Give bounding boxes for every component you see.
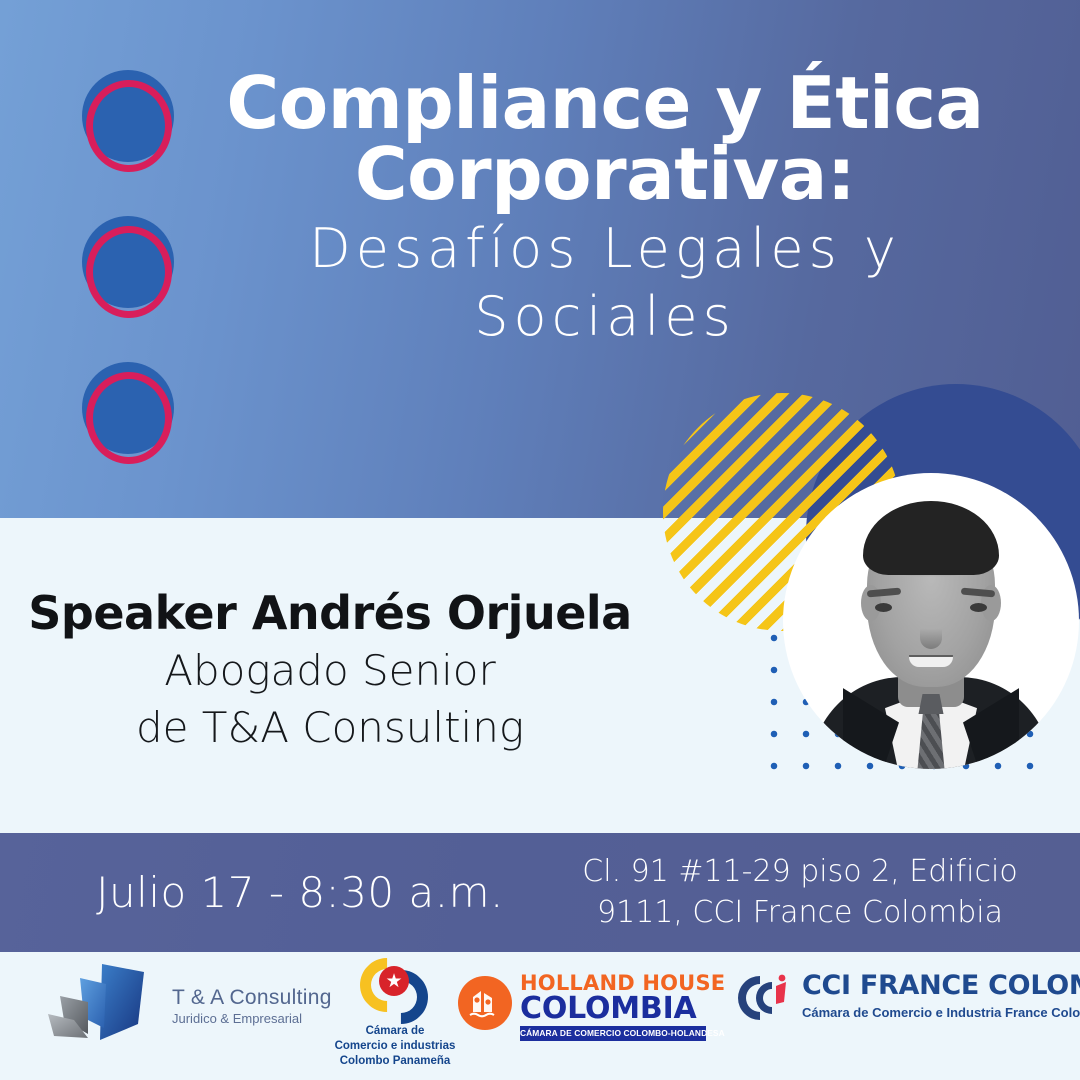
star-badge-icon: ★ [379, 966, 409, 996]
poster-title-block: Compliance y Ética Corporativa: Desafíos… [210, 68, 1000, 347]
ring-circle-outline [86, 372, 172, 464]
speaker-role-line-1: Abogado Senior [0, 645, 660, 696]
event-date-time: Julio 17 - 8:30 a.m. [60, 868, 540, 917]
holland-house-glyph-icon [468, 987, 502, 1019]
cci-subtitle: Cámara de Comercio e Industria France Co… [802, 1005, 1080, 1020]
logo-holland-house-colombia: HOLLAND HOUSE COLOMBIA CÁMARA DE COMERCI… [458, 970, 708, 1056]
sponsor-logo-strip: T & A Consulting Juridico & Empresarial … [0, 952, 1080, 1080]
ta-consulting-mark-icon [44, 962, 164, 1058]
ta-consulting-name: T & A Consulting [172, 986, 332, 1010]
event-poster: Compliance y Ética Corporativa: Desafíos… [0, 0, 1080, 1080]
event-address-line-1: Cl. 91 #11-29 piso 2, Edificio [560, 852, 1040, 893]
ring-circle-2 [78, 216, 183, 324]
ring-circle-outline [86, 226, 172, 318]
speaker-text-block: Speaker Andrés Orjuela Abogado Senior de… [0, 588, 660, 753]
portrait-nose [920, 615, 942, 649]
portrait-eye-left [875, 603, 892, 612]
holland-house-mark-icon [458, 976, 512, 1030]
avatar [783, 473, 1079, 769]
event-address-line-2: 9111, CCI France Colombia [560, 893, 1040, 934]
caption-line-1: Cámara de [310, 1024, 480, 1039]
ring-circle-outline [86, 80, 172, 172]
cci-wordmark: CCI FRANCE COLOMBIA Cámara de Comercio e… [802, 972, 1080, 1020]
camara-colombo-panamena-caption: Cámara de Comercio e industrias Colombo … [310, 1024, 480, 1069]
subtitle-line-2: Sociales [210, 287, 1000, 347]
event-details-bar: Julio 17 - 8:30 a.m. Cl. 91 #11-29 piso … [0, 833, 1080, 952]
portrait-tie-knot [919, 694, 944, 714]
subtitle-line-1: Desafíos Legales y [210, 219, 1000, 279]
event-address: Cl. 91 #11-29 piso 2, Edificio 9111, CCI… [560, 852, 1040, 933]
caption-line-2: Comercio e industrias [310, 1039, 480, 1054]
title-line-1: Compliance y Ética [210, 68, 1000, 139]
portrait-eye-right [970, 603, 987, 612]
logo-cci-france-colombia: CCI FRANCE COLOMBIA Cámara de Comercio e… [736, 968, 1056, 1056]
speaker-role-line-2: de T&A Consulting [0, 702, 660, 753]
title-line-2: Corporativa: [210, 139, 1000, 210]
ring-circle-3 [78, 362, 183, 470]
cci-monogram-icon [736, 972, 792, 1024]
ring-circle-1 [78, 70, 183, 178]
logo-ta-consulting: T & A Consulting Juridico & Empresarial [44, 962, 314, 1062]
cci-mark-icon [736, 972, 792, 1024]
cci-title: CCI FRANCE COLOMBIA [802, 972, 1080, 1000]
holland-house-banner: CÁMARA DE COMERCIO COLOMBO-HOLANDESA [520, 1026, 706, 1041]
camara-colombo-panamena-mark-icon: ★ [360, 958, 430, 1020]
ta-consulting-tagline: Juridico & Empresarial [172, 1011, 332, 1026]
holland-house-line-2: COLOMBIA [520, 994, 706, 1024]
speaker-name: Speaker Andrés Orjuela [0, 588, 660, 639]
holland-house-wordmark: HOLLAND HOUSE COLOMBIA CÁMARA DE COMERCI… [520, 972, 706, 1041]
caption-line-3: Colombo Panameña [310, 1054, 480, 1069]
decorative-ring-stack [78, 70, 198, 470]
logo-camara-colombo-panamena: ★ Cámara de Comercio e industrias Colomb… [310, 958, 480, 1074]
ta-consulting-wordmark: T & A Consulting Juridico & Empresarial [172, 986, 332, 1026]
portrait-mouth [909, 657, 953, 667]
speaker-portrait-illustration [825, 493, 1037, 769]
